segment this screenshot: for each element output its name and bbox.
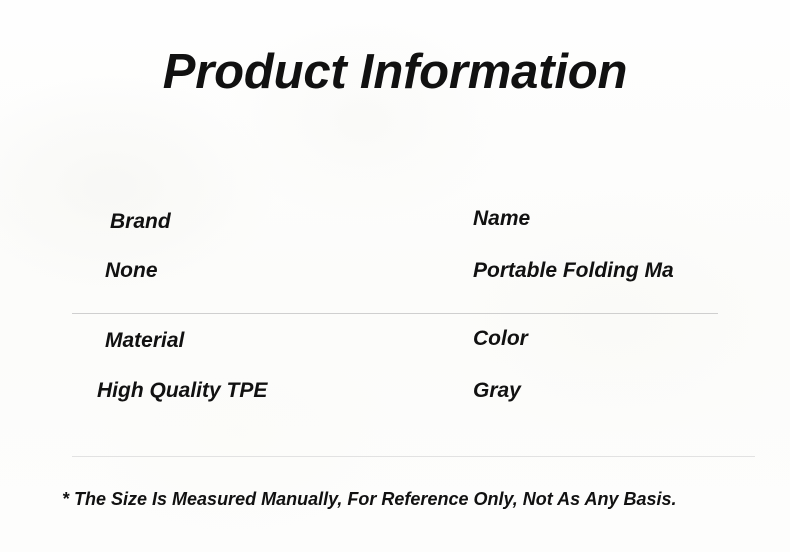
specification-table: Brand None Name Portable Folding Ma Mate… — [0, 196, 790, 456]
spec-cell-name: Name Portable Folding Ma — [400, 196, 790, 313]
page-title: Product Information — [0, 44, 790, 100]
spec-value-color: Gray — [473, 379, 790, 403]
spec-cell-color: Color Gray — [400, 313, 790, 456]
row-divider-bottom — [72, 456, 755, 457]
row-divider-top — [72, 313, 718, 314]
table-row: Material High Quality TPE Color Gray — [0, 313, 790, 456]
product-information-sheet: Product Information Brand None Name Port… — [0, 0, 790, 552]
spec-value-name: Portable Folding Ma — [473, 259, 790, 283]
spec-label-name: Name — [473, 207, 790, 231]
spec-label-color: Color — [473, 327, 790, 351]
table-row: Brand None Name Portable Folding Ma — [0, 196, 790, 313]
measurement-disclaimer: * The Size Is Measured Manually, For Ref… — [62, 487, 677, 511]
